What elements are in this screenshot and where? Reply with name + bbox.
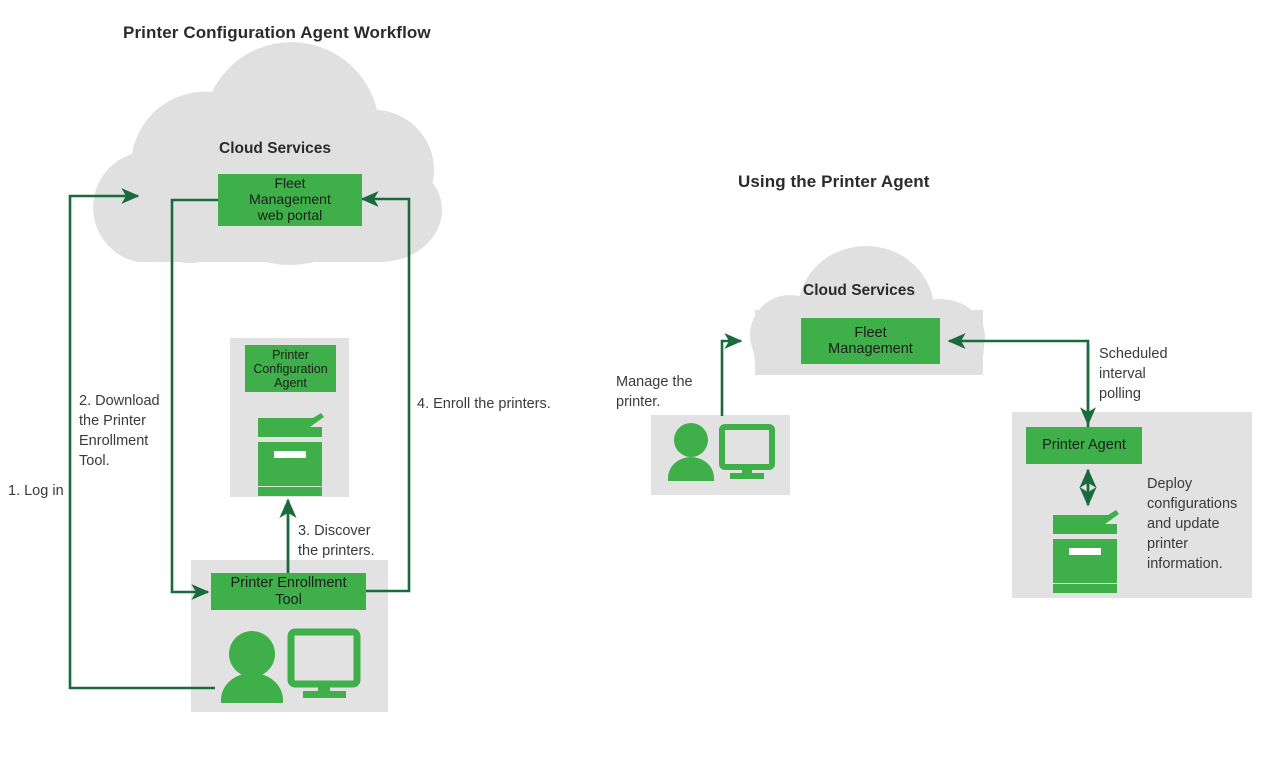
box-fleet-management[interactable]: Fleet Management <box>801 318 940 364</box>
box-printer-enrollment-tool[interactable]: Printer Enrollment Tool <box>211 573 366 610</box>
connector-manage-printer <box>722 341 741 416</box>
page-title-right: Using the Printer Agent <box>738 172 930 192</box>
box-fleet-management-web-portal[interactable]: Fleet Management web portal <box>218 174 362 226</box>
box-printer-configuration-agent[interactable]: Printer Configuration Agent <box>245 345 336 392</box>
label-step-4-enroll-printers: 4. Enroll the printers. <box>417 394 551 414</box>
box-printer-agent[interactable]: Printer Agent <box>1026 427 1142 464</box>
label-step-3-discover-printers: 3. Discover the printers. <box>298 521 375 561</box>
cloud-label-right: Cloud Services <box>803 282 915 300</box>
label-manage-the-printer: Manage the printer. <box>616 372 693 412</box>
label-deploy-configurations: Deploy configurations and update printer… <box>1147 474 1237 574</box>
label-scheduled-interval-polling: Scheduled interval polling <box>1099 344 1168 404</box>
cloud-label-left: Cloud Services <box>219 140 331 158</box>
label-step-1-log-in: 1. Log in <box>8 481 64 501</box>
label-step-2-download-tool: 2. Download the Printer Enrollment Tool. <box>79 391 160 471</box>
page-title-left: Printer Configuration Agent Workflow <box>123 23 431 43</box>
